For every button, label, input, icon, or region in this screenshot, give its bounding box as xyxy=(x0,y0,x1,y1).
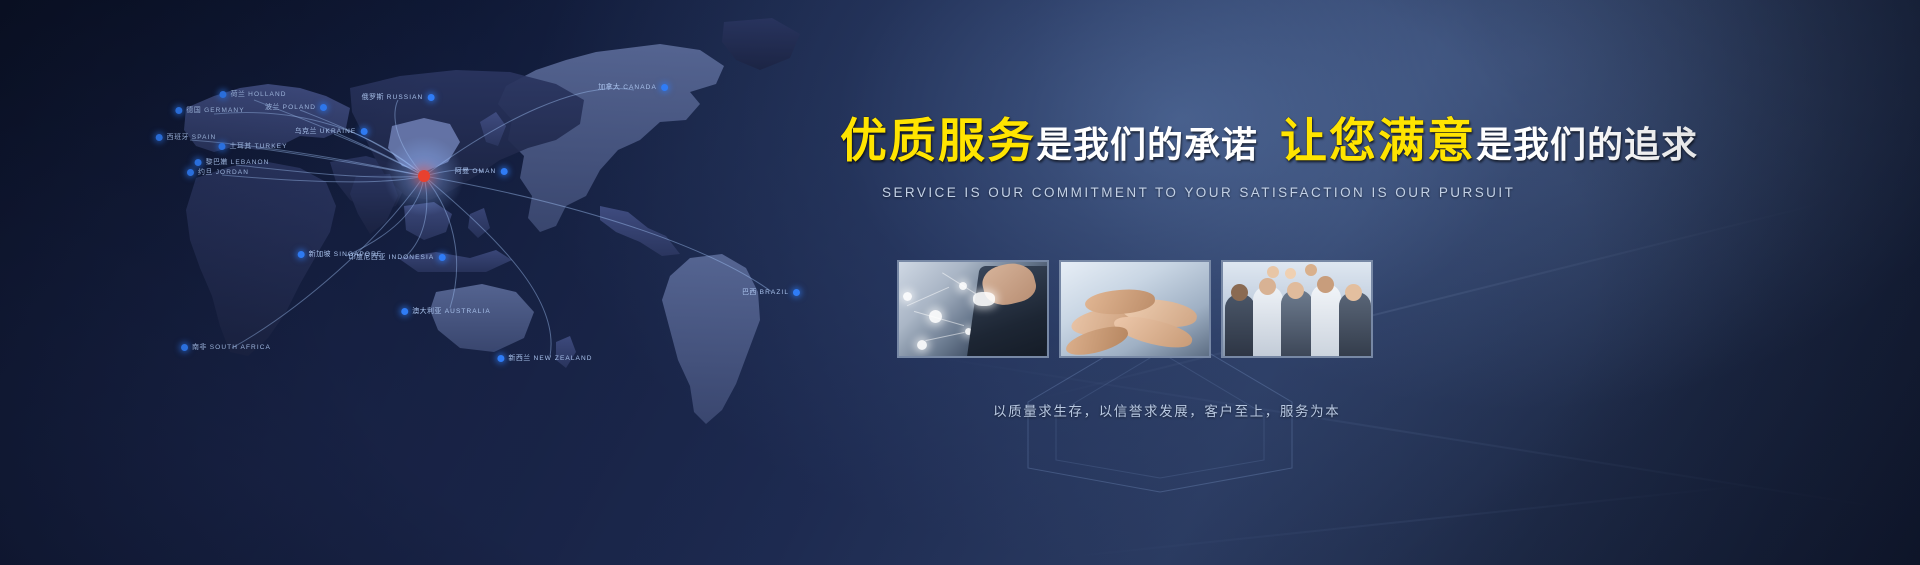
map-point-dot-icon xyxy=(219,91,226,98)
map-point-spain: 西班牙 SPAIN xyxy=(156,132,217,142)
map-label-layer: 荷兰 HOLLAND德国 GERMANY波兰 POLAND俄罗斯 RUSSIAN… xyxy=(0,0,870,470)
light-streak xyxy=(1062,483,1758,558)
map-point-holland: 荷兰 HOLLAND xyxy=(219,89,286,99)
map-point-poland: 波兰 POLAND xyxy=(265,102,327,112)
map-hub-china xyxy=(418,170,430,182)
map-point-dot-icon xyxy=(195,159,202,166)
promo-banner: 荷兰 HOLLAND德国 GERMANY波兰 POLAND俄罗斯 RUSSIAN… xyxy=(0,0,1920,565)
map-point-ukraine: 乌克兰 UKRAINE xyxy=(295,126,368,136)
map-point-label: 波兰 POLAND xyxy=(265,102,316,112)
map-point-dot-icon xyxy=(793,289,800,296)
bottom-tagline: 以质量求生存，以信誉求发展，客户至上，服务为本 xyxy=(993,400,1340,420)
map-point-canada: 加拿大 CANADA xyxy=(598,82,668,92)
map-point-brazil: 巴西 BRAZIL xyxy=(742,287,800,297)
photo-digital-network-touch xyxy=(897,260,1049,358)
headline-highlight-1: 优质服务 xyxy=(840,114,1036,169)
photo-strip xyxy=(897,260,1373,358)
map-point-label: 巴西 BRAZIL xyxy=(742,287,789,297)
map-point-label: 南非 SOUTH AFRICA xyxy=(192,342,271,352)
map-point-label: 土耳其 TURKEY xyxy=(229,141,287,151)
map-point-dot-icon xyxy=(181,344,188,351)
map-point-dot-icon xyxy=(497,355,504,362)
map-point-dot-icon xyxy=(298,251,305,258)
map-point-dot-icon xyxy=(500,168,507,175)
map-point-label: 西班牙 SPAIN xyxy=(167,132,217,142)
map-point-lebanon: 黎巴嫩 LEBANON xyxy=(195,157,270,167)
map-point-label: 印度尼西亚 INDONESIA xyxy=(349,252,435,262)
map-point-turkey: 土耳其 TURKEY xyxy=(218,141,287,151)
map-point-label: 新西兰 NEW ZEALAND xyxy=(508,353,592,363)
map-point-dot-icon xyxy=(187,169,194,176)
map-point-jordan: 约旦 JORDAN xyxy=(187,167,249,177)
map-point-russian: 俄罗斯 RUSSIAN xyxy=(362,92,435,102)
map-point-south-africa: 南非 SOUTH AFRICA xyxy=(181,342,271,352)
map-point-label: 阿曼 OMAN xyxy=(455,166,497,176)
map-point-dot-icon xyxy=(218,143,225,150)
headline: 优质服务是我们的承诺让您满意是我们的追求 xyxy=(840,118,1720,165)
map-point-label: 荷兰 HOLLAND xyxy=(230,89,286,99)
headline-block: 优质服务是我们的承诺让您满意是我们的追求 SERVICE IS OUR COMM… xyxy=(840,118,1720,200)
map-point-indonesia: 印度尼西亚 INDONESIA xyxy=(349,252,446,262)
map-point-new-zealand: 新西兰 NEW ZEALAND xyxy=(497,353,592,363)
headline-rest-2: 是我们的追求 xyxy=(1476,125,1698,166)
photo-hands-together-teamwork xyxy=(1059,260,1211,358)
map-point-dot-icon xyxy=(360,128,367,135)
photo-team-high-five xyxy=(1221,260,1373,358)
map-point-label: 德国 GERMANY xyxy=(186,105,244,115)
map-point-label: 乌克兰 UKRAINE xyxy=(295,126,357,136)
headline-rest-1: 是我们的承诺 xyxy=(1036,125,1258,166)
map-point-dot-icon xyxy=(156,134,163,141)
map-point-label: 加拿大 CANADA xyxy=(598,82,657,92)
light-streak xyxy=(906,352,1894,510)
map-point-dot-icon xyxy=(320,104,327,111)
map-point-label: 俄罗斯 RUSSIAN xyxy=(362,92,424,102)
map-point-dot-icon xyxy=(438,254,445,261)
map-point-dot-icon xyxy=(175,107,182,114)
map-point-dot-icon xyxy=(661,84,668,91)
headline-subtitle: SERVICE IS OUR COMMITMENT TO YOUR SATISF… xyxy=(882,185,1720,200)
world-map: 荷兰 HOLLAND德国 GERMANY波兰 POLAND俄罗斯 RUSSIAN… xyxy=(0,0,870,470)
map-point-dot-icon xyxy=(427,94,434,101)
map-point-oman: 阿曼 OMAN xyxy=(455,166,508,176)
map-point-dot-icon xyxy=(401,308,408,315)
map-point-germany: 德国 GERMANY xyxy=(175,105,244,115)
map-point-label: 约旦 JORDAN xyxy=(198,167,249,177)
map-point-label: 黎巴嫩 LEBANON xyxy=(206,157,270,167)
map-point-australia: 澳大利亚 AUSTRALIA xyxy=(401,306,491,316)
map-point-label: 澳大利亚 AUSTRALIA xyxy=(412,306,491,316)
headline-highlight-2: 让您满意 xyxy=(1280,114,1476,169)
